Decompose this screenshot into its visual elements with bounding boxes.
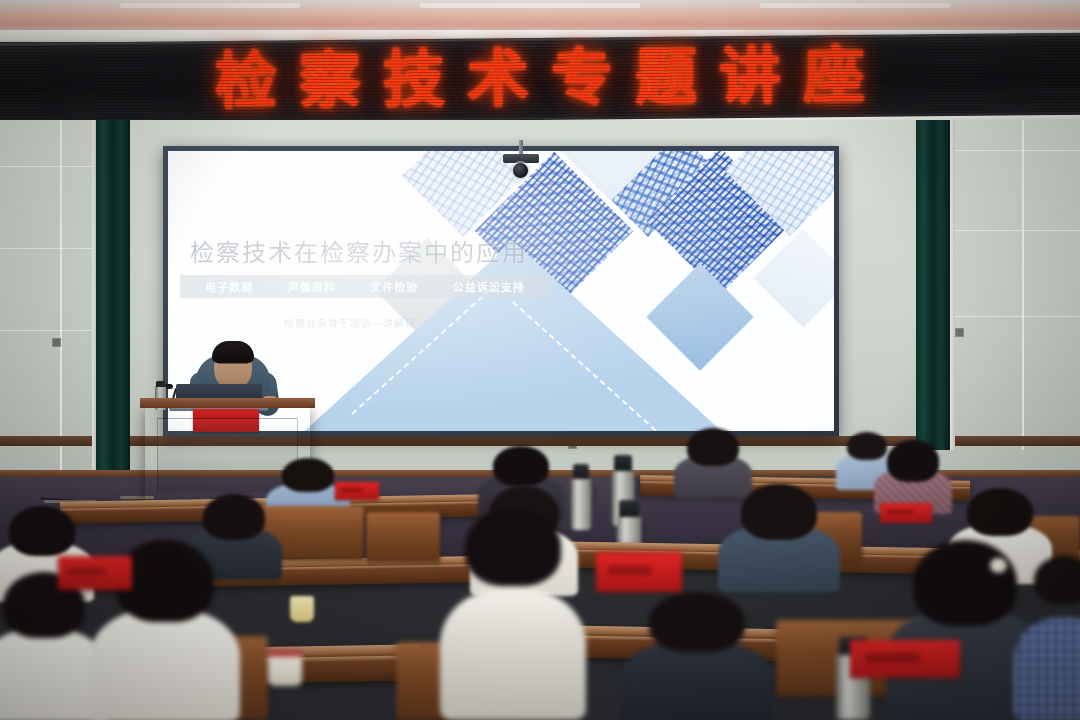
- wall-seam: [1022, 120, 1024, 450]
- wall-seam: [0, 330, 100, 331]
- slide-tag: 电子数据: [205, 279, 253, 295]
- led-banner: 检察技术专题讲座: [0, 33, 1080, 128]
- attendee-teal-shirt: [718, 484, 840, 592]
- lecture-hall-photo: 检察技术专题讲座: [0, 0, 1080, 720]
- camera-lens-icon: [513, 163, 528, 178]
- curtain-edge-right: [950, 120, 955, 450]
- wall-power-outlet: [52, 338, 61, 347]
- presenter-hair: [212, 341, 254, 363]
- slide-tag: 文件检验: [370, 279, 418, 295]
- presenter-glasses: [218, 362, 248, 369]
- slide-tag: 声像资料: [288, 279, 336, 295]
- red-desk-nameplate: [58, 556, 132, 590]
- wall-seam: [950, 230, 1080, 231]
- wall-seam: [0, 166, 100, 167]
- ceiling-light-slot: [760, 3, 950, 8]
- attendee-front-plaid: [1014, 556, 1080, 720]
- hair-scrunchie: [990, 558, 1007, 573]
- wall-power-outlet: [955, 328, 964, 337]
- tea-cup: [290, 596, 314, 622]
- wall-seam: [950, 150, 1080, 151]
- red-desk-nameplate: [335, 482, 379, 500]
- dark-green-curtain: [96, 120, 130, 472]
- podium-microphone: [165, 384, 173, 389]
- wall-seam: [0, 248, 100, 249]
- wooden-bench-back: [366, 512, 440, 562]
- wall-seam: [60, 120, 62, 472]
- tea-cup: [268, 650, 302, 686]
- led-banner-text: 检察技术专题讲座: [0, 42, 1080, 115]
- ceiling-light-slot: [420, 3, 640, 8]
- slide-title: 检察技术在检察办案中的应用: [190, 233, 528, 268]
- wall-seam: [950, 316, 1080, 317]
- slide-tag: 公益诉讼支持: [453, 279, 525, 295]
- red-desk-nameplate: [596, 552, 682, 592]
- dark-green-curtain: [916, 120, 950, 450]
- ceiling-projector-camera: [503, 154, 539, 163]
- attendee-front-navy: [622, 592, 772, 720]
- attendee-front-dark: [440, 508, 586, 720]
- red-desk-nameplate: [850, 640, 960, 678]
- slide-tag-bar: 电子数据 声像资料 文件检验 公益诉讼支持: [180, 275, 550, 298]
- ceiling-light-slot: [120, 3, 300, 8]
- slide-footer-text: 检察业务骨干培训—讲解稿: [284, 315, 416, 330]
- red-desk-nameplate: [880, 503, 932, 523]
